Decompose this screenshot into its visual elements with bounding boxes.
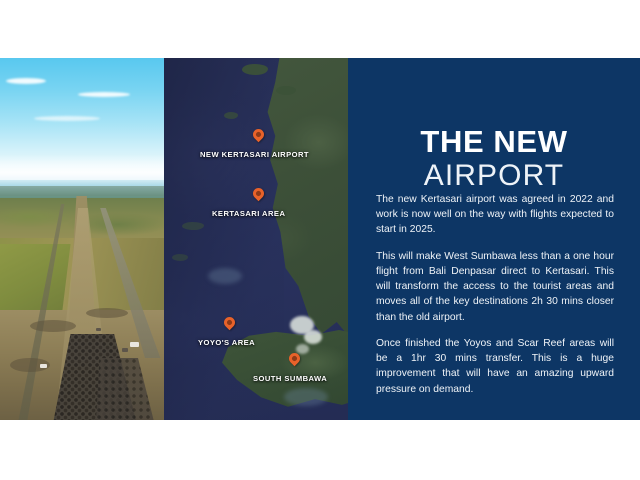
map-cloud <box>304 330 322 344</box>
cloud-shape <box>34 116 100 121</box>
page-title: THE NEW AIRPORT <box>348 126 640 192</box>
content-band: NEW KERTASARI AIRPORT KERTASARI AREA YOY… <box>0 58 640 420</box>
map-island <box>224 112 238 119</box>
map-label-kertasari-area: KERTASARI AREA <box>212 209 285 218</box>
photo-earth-mound <box>86 308 128 318</box>
cloud-shape <box>6 78 46 84</box>
map-island <box>172 254 188 261</box>
paragraph-1: The new Kertasari airport was agreed in … <box>376 192 614 238</box>
map-island <box>276 86 296 95</box>
paragraph-3: Once finished the Yoyos and Scar Reef ar… <box>376 336 614 397</box>
title-line-1: THE NEW <box>348 126 640 158</box>
aerial-construction-photo <box>0 58 164 420</box>
photo-green-field <box>0 244 71 318</box>
map-reef <box>208 268 242 284</box>
text-panel: THE NEW AIRPORT The new Kertasari airpor… <box>348 58 640 420</box>
paragraph-2: This will make West Sumbawa less than a … <box>376 249 614 325</box>
photo-vehicle <box>122 348 128 352</box>
photo-vehicle <box>96 328 101 331</box>
title-line-2: AIRPORT <box>348 159 640 193</box>
map-island <box>242 64 268 75</box>
map-island <box>182 222 204 230</box>
body-copy: The new Kertasari airport was agreed in … <box>376 192 614 397</box>
map-reef <box>284 388 328 406</box>
photo-earth-mound <box>30 320 76 332</box>
map-label-south-sumbawa: SOUTH SUMBAWA <box>253 374 327 383</box>
photo-vehicle <box>40 364 47 368</box>
map-label-new-kertasari-airport: NEW KERTASARI AIRPORT <box>200 150 309 159</box>
map-label-yoyos-area: YOYO'S AREA <box>198 338 255 347</box>
cloud-shape <box>78 92 130 97</box>
photo-vehicle <box>130 342 139 347</box>
map-cloud <box>296 344 309 354</box>
slide-canvas: NEW KERTASARI AIRPORT KERTASARI AREA YOY… <box>0 0 640 480</box>
satellite-map[interactable]: NEW KERTASARI AIRPORT KERTASARI AREA YOY… <box>164 58 348 420</box>
